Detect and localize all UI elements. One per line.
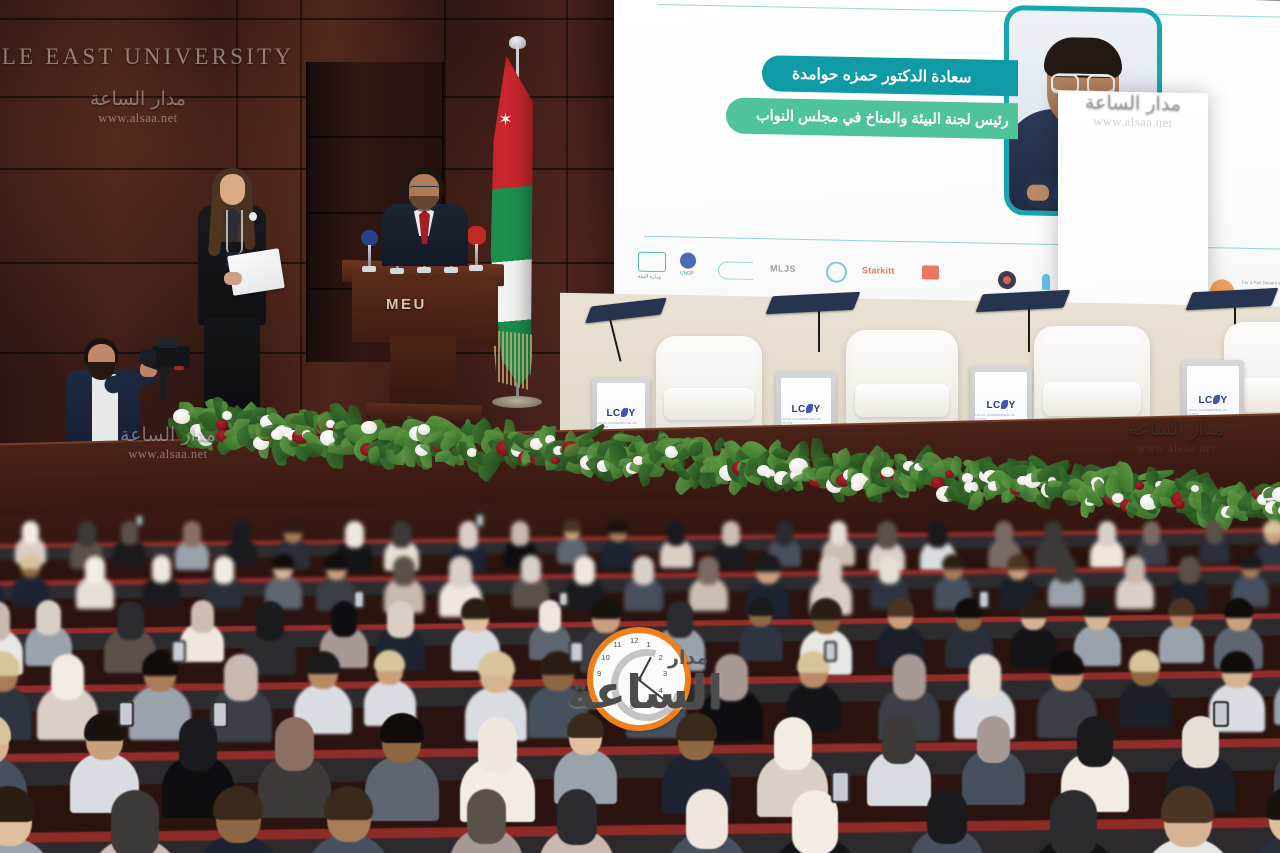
audience-hair [810, 598, 841, 619]
audience-head [117, 601, 144, 640]
clock-numeral: 11 [614, 640, 622, 649]
audience-member [196, 782, 280, 853]
audience-hair [591, 598, 621, 619]
sponsor-ring-icon [826, 261, 847, 282]
audience-member [1029, 782, 1118, 853]
audience-hair [380, 713, 424, 743]
audience-head [1077, 716, 1113, 767]
audience-member [0, 782, 53, 853]
audience-phone [824, 641, 837, 662]
audience-hair [1263, 520, 1280, 535]
audience-head [393, 556, 415, 587]
audience-member [539, 782, 614, 853]
audience-head [387, 601, 413, 638]
audience-hair [325, 554, 349, 570]
sponsor-arc-icon [718, 261, 753, 280]
audience-head [879, 556, 899, 585]
sponsor-person-icon [1042, 274, 1050, 290]
audience-member [450, 782, 523, 853]
audience-hair [478, 651, 515, 676]
audience-head [392, 521, 411, 547]
sponsor-target-icon [998, 271, 1016, 289]
podium-logo-label: MEU [386, 296, 427, 313]
audience-hair [272, 554, 294, 569]
audience-phone [171, 640, 185, 663]
audience-member [1116, 552, 1154, 607]
audience-head [214, 556, 234, 584]
podium-base [366, 403, 482, 426]
speaker-title-banner: رئيس لجنة البيئة والمناخ في مجلس النواب [726, 97, 1018, 139]
microphone-red [466, 226, 488, 276]
audience-phone [135, 514, 144, 527]
audience-phone [1213, 701, 1229, 727]
sponsor-blue-globe-icon [680, 252, 696, 268]
audience-head [893, 654, 926, 701]
audience-hair [283, 520, 303, 534]
audience-member [910, 782, 984, 853]
video-camera-rig [140, 336, 194, 386]
audience-hair [1084, 598, 1112, 617]
audience-head [36, 600, 61, 635]
audience-member [668, 782, 747, 853]
speaker-name-banner: سعادة الدكتور حمزه حوامدة [762, 55, 1018, 96]
audience-head [467, 789, 506, 844]
audience-member [90, 782, 180, 853]
clock-numeral: 10 [601, 653, 609, 662]
audience-member [307, 782, 390, 853]
audience-phone [475, 513, 484, 528]
audience-head [1143, 521, 1160, 545]
audience-head [1044, 521, 1062, 547]
audience-head [111, 790, 159, 853]
audience-head [85, 556, 105, 585]
audience-hair [1007, 554, 1030, 570]
audience-head [183, 521, 201, 547]
audience-member [113, 518, 145, 564]
audience-hair [1224, 598, 1253, 618]
audience-head [574, 556, 595, 585]
audience-hair [461, 598, 491, 618]
audience-phone [118, 701, 134, 727]
sponsor-starkitt-label: Starkitt [862, 265, 895, 276]
audience-head [275, 717, 313, 771]
audience-hair [213, 786, 263, 820]
audience-head [995, 521, 1013, 546]
audience-head [830, 521, 847, 545]
audience-hair [563, 519, 581, 531]
audience-head [928, 521, 947, 548]
sponsor-mljs-label: MLJS [770, 263, 796, 274]
audience-hair [1129, 650, 1160, 671]
audience-member [772, 782, 858, 853]
wall-university-name: DLE EAST UNIVERSITY [0, 44, 294, 70]
audience-head [22, 521, 38, 544]
clock-numeral: 12 [630, 636, 638, 645]
watermark-center-logo: 121234567891011 مدار الساعة [540, 625, 750, 740]
audience-head [0, 601, 10, 641]
sponsor-red-square-icon [922, 265, 939, 279]
audience-hair [1049, 651, 1085, 675]
audience-head [1125, 556, 1145, 585]
audience-head [633, 556, 654, 585]
sponsor-ministry-icon [638, 252, 666, 273]
audience-phone [831, 771, 851, 803]
audience-hair [1161, 786, 1214, 822]
audience-head [877, 521, 897, 549]
audience-head [511, 521, 529, 546]
speaker-portrait-card [1004, 5, 1162, 218]
audience-hair [1019, 598, 1047, 617]
audience-hair [1266, 786, 1280, 820]
audience-hair [1240, 554, 1262, 569]
audience-head [969, 654, 1001, 700]
audience-head [1206, 521, 1222, 544]
clock-numeral: 1 [647, 640, 651, 649]
speaker-glasses-icon [409, 186, 440, 196]
sponsor-tagline: For a Fair Decent Work and Inclusion in … [1242, 280, 1280, 288]
audience-head [882, 716, 916, 764]
logo-alsaa-text: الساعة [540, 669, 750, 715]
audience-head [774, 717, 812, 770]
audience-phone [558, 591, 569, 608]
audience-head [557, 789, 597, 845]
audience-head [722, 521, 740, 546]
audience-hair [755, 554, 781, 572]
audience-head [1179, 556, 1199, 585]
audience-head [977, 716, 1010, 763]
audience-hair [1168, 598, 1195, 616]
audience-hair [374, 650, 405, 671]
audience-member [1143, 782, 1233, 853]
lanyard [226, 210, 243, 254]
audience-head [449, 556, 472, 588]
audience-member [660, 518, 693, 566]
screenshot-root: DLE EAST UNIVERSITY مدار الساعة www.alsa… [0, 0, 1280, 853]
clock-numeral: 2 [659, 653, 663, 662]
audience-head [686, 789, 728, 848]
audience-head [667, 521, 685, 546]
audience-head [233, 521, 250, 545]
audience-head [78, 521, 96, 546]
audience-hair [0, 786, 35, 822]
audience-hair [607, 520, 627, 534]
lapel-pin-icon [249, 212, 257, 221]
audience-hair [306, 651, 340, 674]
camera-lens-icon [140, 349, 156, 364]
flag-stand-base [492, 396, 542, 408]
audience-hair [324, 786, 373, 820]
audience-hair [887, 598, 915, 617]
audience-head [1098, 521, 1116, 547]
audience-head [819, 556, 841, 588]
audience-head [698, 556, 719, 586]
audience-head [191, 600, 214, 633]
audience-hair [748, 598, 774, 616]
audience-phone [353, 590, 365, 609]
audience-head [478, 717, 518, 773]
audience-head [345, 521, 364, 548]
audience-head [256, 601, 284, 641]
portrait-glasses-icon [1052, 73, 1114, 93]
audience-hair [1220, 651, 1253, 674]
audience-hair [942, 554, 965, 570]
audience-hair [20, 554, 42, 569]
audience-head [521, 555, 541, 583]
audience-head [776, 521, 793, 546]
audience-phone [212, 701, 229, 728]
presentation-screen: سعادة الدكتور حمزه حوامدة رئيس لجنة البي… [614, 0, 1280, 333]
flag-star-icon: ✶ [498, 112, 513, 127]
audience-phone [978, 590, 990, 609]
audience-hair [0, 714, 11, 745]
audience-head [152, 555, 171, 582]
audience-member [1249, 782, 1280, 853]
sponsor-faint-circle-icon [1140, 276, 1162, 298]
audience-head [224, 654, 257, 701]
audience-hair [0, 651, 20, 676]
sponsor-faint-text: green jobsprogramme [1078, 276, 1101, 289]
audience-head [51, 654, 84, 700]
audience-head [1056, 555, 1076, 583]
audience-head [1050, 790, 1097, 853]
audience-head [927, 789, 966, 844]
microphone-blue [360, 230, 380, 276]
